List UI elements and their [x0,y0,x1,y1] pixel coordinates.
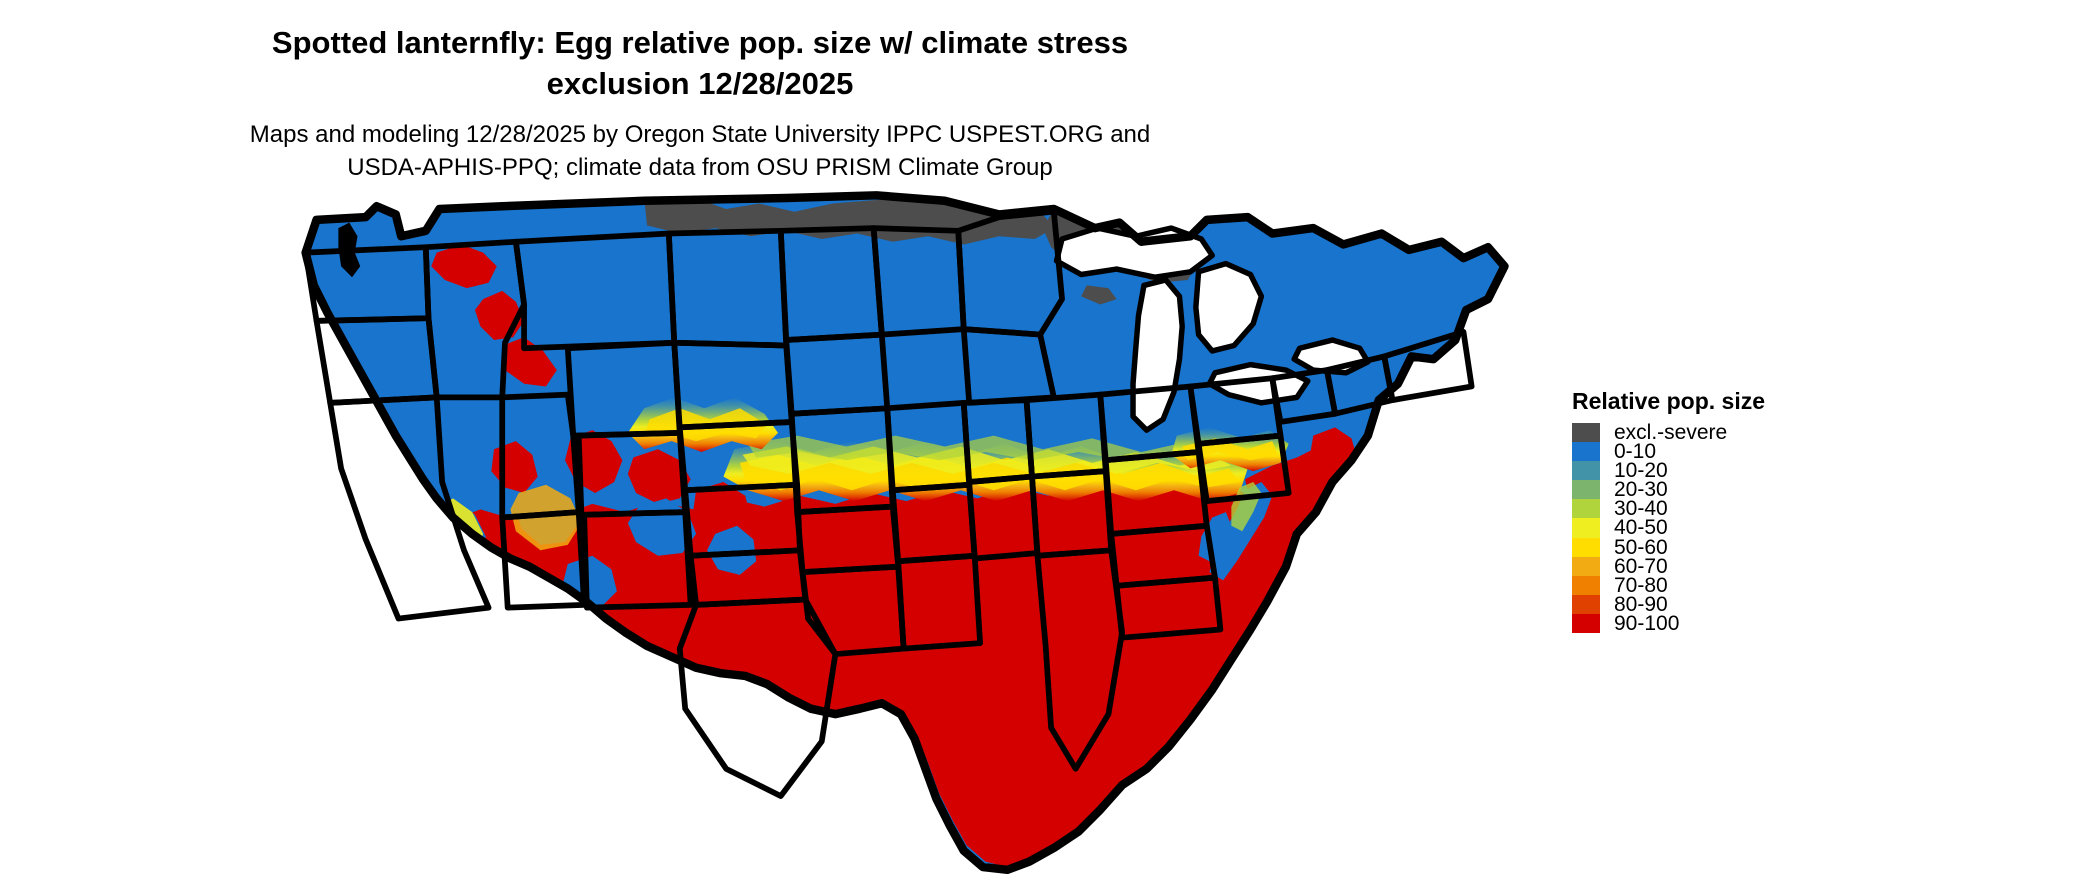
legend-item: 10-20 [1572,461,1765,480]
legend-swatch [1572,614,1600,633]
map-legend: Relative pop. size excl.-severe0-1010-20… [1572,388,1765,633]
legend-swatch [1572,461,1600,480]
legend-swatch [1572,557,1600,576]
page-title: Spotted lanternfly: Egg relative pop. si… [0,22,1400,104]
legend-swatch [1572,576,1600,595]
legend-item: 20-30 [1572,480,1765,499]
legend-item: 40-50 [1572,518,1765,537]
map-raster-layer [306,195,1505,870]
legend-label: 50-60 [1614,538,1668,557]
legend-item: 70-80 [1572,576,1765,595]
legend-item: excl.-severe [1572,423,1765,442]
legend-swatch [1572,499,1600,518]
map-svg [230,168,1550,878]
legend-label: 70-80 [1614,576,1668,595]
legend-label: 90-100 [1614,614,1679,633]
legend-title: Relative pop. size [1572,388,1765,415]
legend-item: 90-100 [1572,614,1765,633]
legend-swatch [1572,480,1600,499]
legend-swatch [1572,518,1600,537]
legend-swatch [1572,442,1600,461]
raster-class-excl-severe-sonoran [497,638,669,725]
us-choropleth-map [230,168,1550,878]
legend-item: 30-40 [1572,499,1765,518]
legend-swatch [1572,538,1600,557]
legend-swatch [1572,423,1600,442]
legend-swatch [1572,595,1600,614]
title-block: Spotted lanternfly: Egg relative pop. si… [0,22,1400,184]
map-figure: Spotted lanternfly: Egg relative pop. si… [0,0,2100,892]
legend-item: 60-70 [1572,557,1765,576]
legend-item: 50-60 [1572,538,1765,557]
legend-label: 60-70 [1614,557,1668,576]
legend-item: 0-10 [1572,442,1765,461]
legend-rows: excl.-severe0-1010-2020-3030-4040-5050-6… [1572,423,1765,633]
legend-label: 40-50 [1614,518,1668,537]
